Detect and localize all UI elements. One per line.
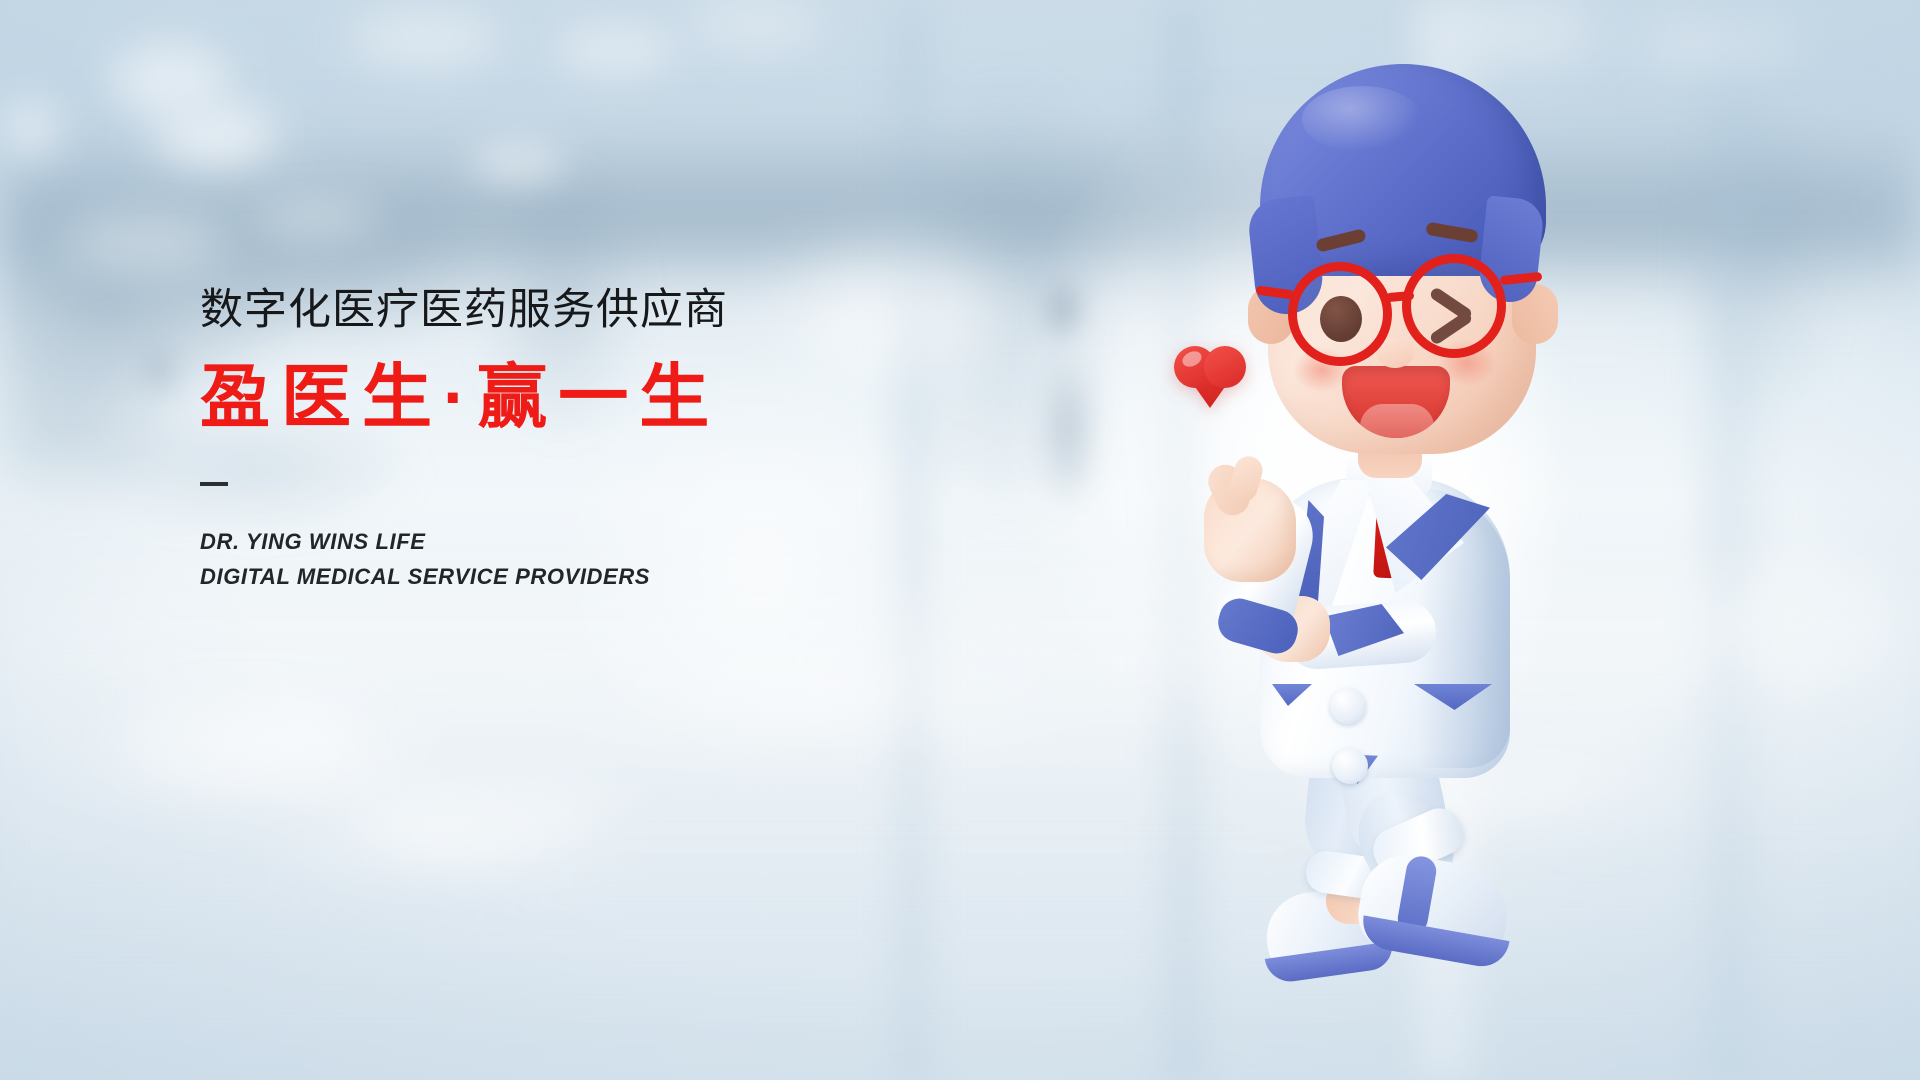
hero-slogan: 盈医生·赢一生 (200, 360, 920, 436)
mascot-coat-button-top (1330, 688, 1366, 724)
mascot-hair-highlight (1302, 86, 1422, 152)
hero-divider (200, 482, 228, 486)
doctor-mascot (1190, 48, 1610, 1048)
floating-heart-icon (1174, 346, 1246, 412)
mascot-glasses-lens-left (1288, 262, 1392, 366)
mascot-glasses-lens-right (1402, 254, 1506, 358)
hero-banner: 数字化医疗医药服务供应商 盈医生·赢一生 DR. YING WINS LIFE … (0, 0, 1920, 1080)
mascot-coat-button-bottom (1332, 748, 1368, 784)
hero-subtitle-line-2: DIGITAL MEDICAL SERVICE PROVIDERS (200, 559, 920, 595)
hero-subtitle-line-1: DR. YING WINS LIFE (200, 524, 920, 560)
hero-copy-block: 数字化医疗医药服务供应商 盈医生·赢一生 DR. YING WINS LIFE … (200, 286, 920, 595)
hero-subtitle-group: DR. YING WINS LIFE DIGITAL MEDICAL SERVI… (200, 524, 920, 595)
hero-headline: 数字化医疗医药服务供应商 (200, 286, 920, 334)
mascot-tongue (1360, 404, 1434, 438)
